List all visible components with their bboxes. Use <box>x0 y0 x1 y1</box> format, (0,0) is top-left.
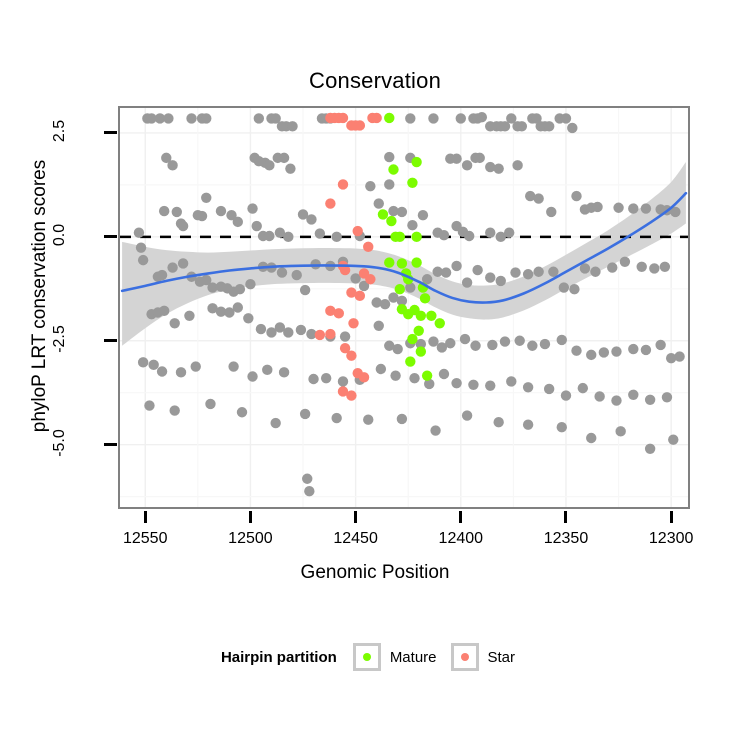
data-point <box>287 121 297 131</box>
data-point <box>580 263 590 273</box>
data-point <box>256 324 266 334</box>
data-point <box>395 284 405 294</box>
data-point <box>325 198 335 208</box>
data-point <box>395 232 405 242</box>
data-point <box>184 311 194 321</box>
data-point <box>422 370 432 380</box>
data-point <box>557 422 567 432</box>
data-point <box>407 334 417 344</box>
data-point <box>655 340 665 350</box>
data-point <box>178 221 188 231</box>
data-point <box>285 163 295 173</box>
data-point <box>660 262 670 272</box>
data-point <box>523 269 533 279</box>
data-point <box>359 372 369 382</box>
data-point <box>506 376 516 386</box>
data-point <box>374 198 384 208</box>
data-point <box>167 262 177 272</box>
data-point <box>523 382 533 392</box>
x-tick-label: 12550 <box>110 530 180 548</box>
data-point <box>472 265 482 275</box>
data-point <box>460 334 470 344</box>
y-tick-label: 0.0 <box>51 213 69 257</box>
data-point <box>445 338 455 348</box>
legend-key <box>451 643 479 671</box>
x-tick-mark <box>564 511 567 523</box>
data-points <box>134 112 685 496</box>
data-point <box>411 157 421 167</box>
data-point <box>533 193 543 203</box>
data-point <box>216 206 226 216</box>
data-point <box>611 346 621 356</box>
data-point <box>464 231 474 241</box>
data-point <box>567 123 577 133</box>
data-point <box>254 113 264 123</box>
legend-key <box>353 643 381 671</box>
data-point <box>292 270 302 280</box>
data-point <box>430 425 440 435</box>
data-point <box>493 417 503 427</box>
data-point <box>300 285 310 295</box>
data-point <box>428 336 438 346</box>
data-point <box>186 113 196 123</box>
data-point <box>668 434 678 444</box>
data-point <box>363 415 373 425</box>
data-point <box>390 370 400 380</box>
data-point <box>439 230 449 240</box>
data-point <box>384 152 394 162</box>
data-point <box>628 390 638 400</box>
data-point <box>451 154 461 164</box>
data-point <box>334 308 344 318</box>
data-point <box>475 153 485 163</box>
data-point <box>641 203 651 213</box>
data-point <box>201 113 211 123</box>
data-point <box>405 113 415 123</box>
data-point <box>148 360 158 370</box>
data-point <box>569 284 579 294</box>
data-point <box>559 282 569 292</box>
data-point <box>167 160 177 170</box>
x-tick-mark <box>354 511 357 523</box>
data-point <box>252 221 262 231</box>
data-point <box>191 361 201 371</box>
data-point <box>493 163 503 173</box>
data-point <box>510 267 520 277</box>
data-point <box>353 226 363 236</box>
data-point <box>515 336 525 346</box>
y-tick-mark <box>104 235 117 238</box>
data-point <box>304 486 314 496</box>
data-point <box>300 409 310 419</box>
data-point <box>235 284 245 294</box>
data-point <box>414 326 424 336</box>
data-point <box>388 164 398 174</box>
data-point <box>386 216 396 226</box>
legend-color-dot <box>363 653 371 661</box>
plot-panel <box>118 106 690 509</box>
data-point <box>355 291 365 301</box>
y-tick-label: -2.5 <box>51 317 69 361</box>
data-point <box>407 178 417 188</box>
data-point <box>418 210 428 220</box>
data-point <box>641 345 651 355</box>
data-point <box>346 351 356 361</box>
data-point <box>159 206 169 216</box>
data-point <box>264 231 274 241</box>
data-point <box>645 395 655 405</box>
data-point <box>378 209 388 219</box>
data-point <box>611 395 621 405</box>
data-point <box>599 347 609 357</box>
data-point <box>397 414 407 424</box>
data-point <box>544 384 554 394</box>
legend-label: Star <box>488 649 516 666</box>
data-point <box>338 179 348 189</box>
data-point <box>557 335 567 345</box>
data-point <box>365 181 375 191</box>
data-point <box>279 153 289 163</box>
data-point <box>527 341 537 351</box>
data-point <box>384 113 394 123</box>
data-point <box>283 327 293 337</box>
data-point <box>170 405 180 415</box>
data-point <box>270 418 280 428</box>
data-point <box>456 113 466 123</box>
data-point <box>144 400 154 410</box>
confidence-band <box>122 162 686 346</box>
data-point <box>157 366 167 376</box>
x-tick-mark <box>144 511 147 523</box>
data-point <box>138 357 148 367</box>
data-point <box>496 276 506 286</box>
data-point <box>170 318 180 328</box>
data-point <box>428 113 438 123</box>
data-point <box>485 227 495 237</box>
data-point <box>561 390 571 400</box>
data-point <box>340 331 350 341</box>
data-point <box>615 426 625 436</box>
data-point <box>441 267 451 277</box>
data-point <box>407 220 417 230</box>
data-point <box>233 302 243 312</box>
data-point <box>468 380 478 390</box>
data-point <box>176 367 186 377</box>
data-point <box>159 306 169 316</box>
data-point <box>620 257 630 267</box>
data-point <box>277 267 287 277</box>
data-point <box>325 329 335 339</box>
data-point <box>571 346 581 356</box>
data-point <box>512 160 522 170</box>
data-point <box>533 267 543 277</box>
data-point <box>540 339 550 349</box>
x-tick-label: 12400 <box>426 530 496 548</box>
data-point <box>245 279 255 289</box>
data-point <box>435 318 445 328</box>
data-point <box>157 270 167 280</box>
data-point <box>315 228 325 238</box>
data-point <box>586 350 596 360</box>
y-tick-mark <box>104 339 117 342</box>
data-point <box>205 399 215 409</box>
data-point <box>674 351 684 361</box>
data-point <box>628 203 638 213</box>
data-point <box>426 311 436 321</box>
data-point <box>302 474 312 484</box>
y-axis-title: phyloP LRT conservation scores <box>29 66 51 526</box>
data-point <box>279 367 289 377</box>
data-point <box>397 258 407 268</box>
data-point <box>306 214 316 224</box>
data-point <box>504 227 514 237</box>
y-tick-mark <box>104 131 117 134</box>
data-point <box>523 420 533 430</box>
x-tick-label: 12500 <box>215 530 285 548</box>
data-point <box>546 207 556 217</box>
x-tick-label: 12300 <box>636 530 706 548</box>
data-point <box>392 344 402 354</box>
x-axis-title: Genomic Position <box>0 562 750 584</box>
data-point <box>331 232 341 242</box>
plot-canvas <box>120 108 688 507</box>
data-point <box>500 336 510 346</box>
y-tick-label: 2.5 <box>51 109 69 153</box>
legend-item-star[interactable]: Star <box>451 643 516 671</box>
data-point <box>590 267 600 277</box>
data-point <box>363 242 373 252</box>
legend-items: MatureStar <box>353 643 529 671</box>
data-point <box>365 274 375 284</box>
data-point <box>637 262 647 272</box>
data-point <box>649 263 659 273</box>
data-point <box>411 232 421 242</box>
data-point <box>264 160 274 170</box>
data-point <box>163 113 173 123</box>
data-point <box>384 257 394 267</box>
data-point <box>571 191 581 201</box>
data-point <box>237 407 247 417</box>
data-point <box>416 346 426 356</box>
data-point <box>376 364 386 374</box>
data-point <box>645 444 655 454</box>
data-point <box>371 113 381 123</box>
data-point <box>477 112 487 122</box>
legend-title: Hairpin partition <box>221 649 337 666</box>
data-point <box>462 160 472 170</box>
data-point <box>397 207 407 217</box>
data-point <box>662 392 672 402</box>
y-tick-label: -5.0 <box>51 421 69 465</box>
data-point <box>296 325 306 335</box>
x-tick-mark <box>459 511 462 523</box>
x-tick-label: 12450 <box>321 530 391 548</box>
data-point <box>138 255 148 265</box>
data-point <box>586 433 596 443</box>
data-point <box>243 313 253 323</box>
data-point <box>136 242 146 252</box>
data-point <box>485 272 495 282</box>
data-point <box>409 373 419 383</box>
data-point <box>578 383 588 393</box>
y-tick-mark <box>104 443 117 446</box>
data-point <box>384 179 394 189</box>
chart-title: Conservation <box>0 68 750 94</box>
data-point <box>355 120 365 130</box>
data-point <box>262 365 272 375</box>
data-point <box>594 391 604 401</box>
legend-label: Mature <box>390 649 437 666</box>
data-point <box>247 371 257 381</box>
data-point <box>451 261 461 271</box>
data-point <box>544 121 554 131</box>
x-tick-mark <box>249 511 252 523</box>
data-point <box>380 299 390 309</box>
data-point <box>331 413 341 423</box>
data-point <box>233 217 243 227</box>
x-tick-mark <box>670 511 673 523</box>
data-point <box>592 202 602 212</box>
data-point <box>374 321 384 331</box>
data-point <box>338 113 348 123</box>
data-point <box>321 373 331 383</box>
data-point <box>283 232 293 242</box>
data-point <box>315 330 325 340</box>
data-point <box>470 341 480 351</box>
data-point <box>403 309 413 319</box>
data-point <box>485 380 495 390</box>
data-point <box>487 340 497 350</box>
data-point <box>517 121 527 131</box>
legend-item-mature[interactable]: Mature <box>353 643 437 671</box>
legend-color-dot <box>461 653 469 661</box>
data-point <box>338 376 348 386</box>
data-point <box>607 262 617 272</box>
data-point <box>201 193 211 203</box>
data-point <box>451 378 461 388</box>
data-point <box>462 277 472 287</box>
data-point <box>561 113 571 123</box>
data-point <box>420 293 430 303</box>
data-point <box>172 207 182 217</box>
data-point <box>405 356 415 366</box>
data-point <box>134 227 144 237</box>
data-point <box>228 361 238 371</box>
legend: Hairpin partition MatureStar <box>0 643 750 671</box>
data-point <box>416 311 426 321</box>
data-point <box>348 318 358 328</box>
data-point <box>308 374 318 384</box>
data-point <box>346 390 356 400</box>
data-point <box>462 410 472 420</box>
data-point <box>197 211 207 221</box>
data-point <box>247 203 257 213</box>
data-point <box>613 203 623 213</box>
data-point <box>439 369 449 379</box>
data-point <box>628 344 638 354</box>
chart-root: Conservation phyloP LRT conservation sco… <box>0 0 750 750</box>
x-tick-label: 12350 <box>531 530 601 548</box>
data-point <box>411 257 421 267</box>
data-point <box>178 258 188 268</box>
